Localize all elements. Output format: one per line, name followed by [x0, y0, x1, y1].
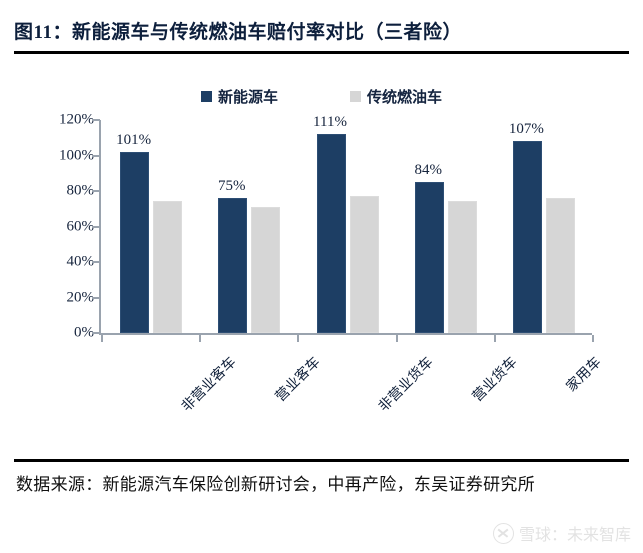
legend-swatch-fuel	[350, 91, 361, 102]
bar-value-label: 75%	[218, 178, 246, 195]
plot-area: 0%20%40%60%80%100%120% 101%75%111%84%107…	[0, 112, 643, 352]
source-note: 数据来源：新能源汽车保险创新研讨会，中再产险，东吴证券研究所	[16, 470, 576, 500]
bar-value-label: 107%	[509, 121, 544, 138]
page-title: 图11：新能源车与传统燃油车赔付率对比（三者险）	[14, 20, 629, 46]
y-tick-label: 120%	[59, 112, 94, 129]
x-category-label: 家用车	[561, 352, 605, 396]
bar-value-label: 84%	[414, 162, 442, 179]
bar-fuel-3	[350, 196, 379, 333]
x-tick-mark	[494, 335, 496, 342]
bar-value-label: 101%	[116, 132, 151, 149]
watermark: 雪球：未来智库	[493, 521, 631, 545]
bar-new-energy-2	[218, 198, 247, 333]
bar-fuel-2	[251, 207, 280, 333]
x-axis-line	[99, 333, 592, 335]
y-tick-label: 40%	[67, 254, 95, 271]
figure-title-block: 图11：新能源车与传统燃油车赔付率对比（三者险）	[14, 20, 629, 54]
legend-item-new-energy: 新能源车	[201, 86, 278, 107]
x-category-label: 非营业客车	[177, 352, 241, 416]
x-tick-mark	[101, 335, 103, 342]
bar-new-energy-1	[120, 152, 149, 333]
y-axis-tick-labels: 0%20%40%60%80%100%120%	[32, 112, 94, 334]
bar-new-energy-3	[317, 134, 346, 333]
legend-item-fuel: 传统燃油车	[350, 86, 442, 107]
bar-value-label: 111%	[313, 114, 347, 131]
legend-label-new-energy: 新能源车	[218, 86, 278, 107]
title-divider	[14, 51, 629, 54]
legend-label-fuel: 传统燃油车	[367, 86, 442, 107]
footer-divider	[14, 459, 629, 462]
chart-legend: 新能源车 传统燃油车	[0, 86, 643, 107]
y-tick-label: 0%	[74, 325, 94, 342]
x-tick-mark	[592, 335, 594, 342]
x-tick-mark	[297, 335, 299, 342]
bars-layer: 101%75%111%84%107%	[101, 120, 592, 333]
x-tick-mark	[199, 335, 201, 342]
y-tick-label: 20%	[67, 289, 95, 306]
x-category-label: 营业货车	[467, 352, 521, 406]
y-tick-label: 100%	[59, 147, 94, 164]
watermark-text: 雪球：未来智库	[519, 521, 631, 545]
bar-fuel-5	[546, 198, 575, 333]
x-axis-category-labels: 非营业客车营业客车非营业货车营业货车家用车	[101, 352, 592, 444]
y-tick-label: 80%	[67, 183, 95, 200]
bar-fuel-1	[153, 201, 182, 333]
figure-container: 图11：新能源车与传统燃油车赔付率对比（三者险） 新能源车 传统燃油车 0%20…	[0, 0, 643, 553]
x-tick-mark	[396, 335, 398, 342]
xueqiu-logo-icon	[493, 523, 514, 544]
y-tick-label: 60%	[67, 218, 95, 235]
bar-new-energy-5	[513, 141, 542, 333]
x-category-label: 营业客车	[271, 352, 325, 406]
legend-swatch-new-energy	[201, 91, 212, 102]
bar-new-energy-4	[415, 182, 444, 333]
x-category-label: 非营业货车	[373, 352, 437, 416]
bar-fuel-4	[448, 201, 477, 333]
